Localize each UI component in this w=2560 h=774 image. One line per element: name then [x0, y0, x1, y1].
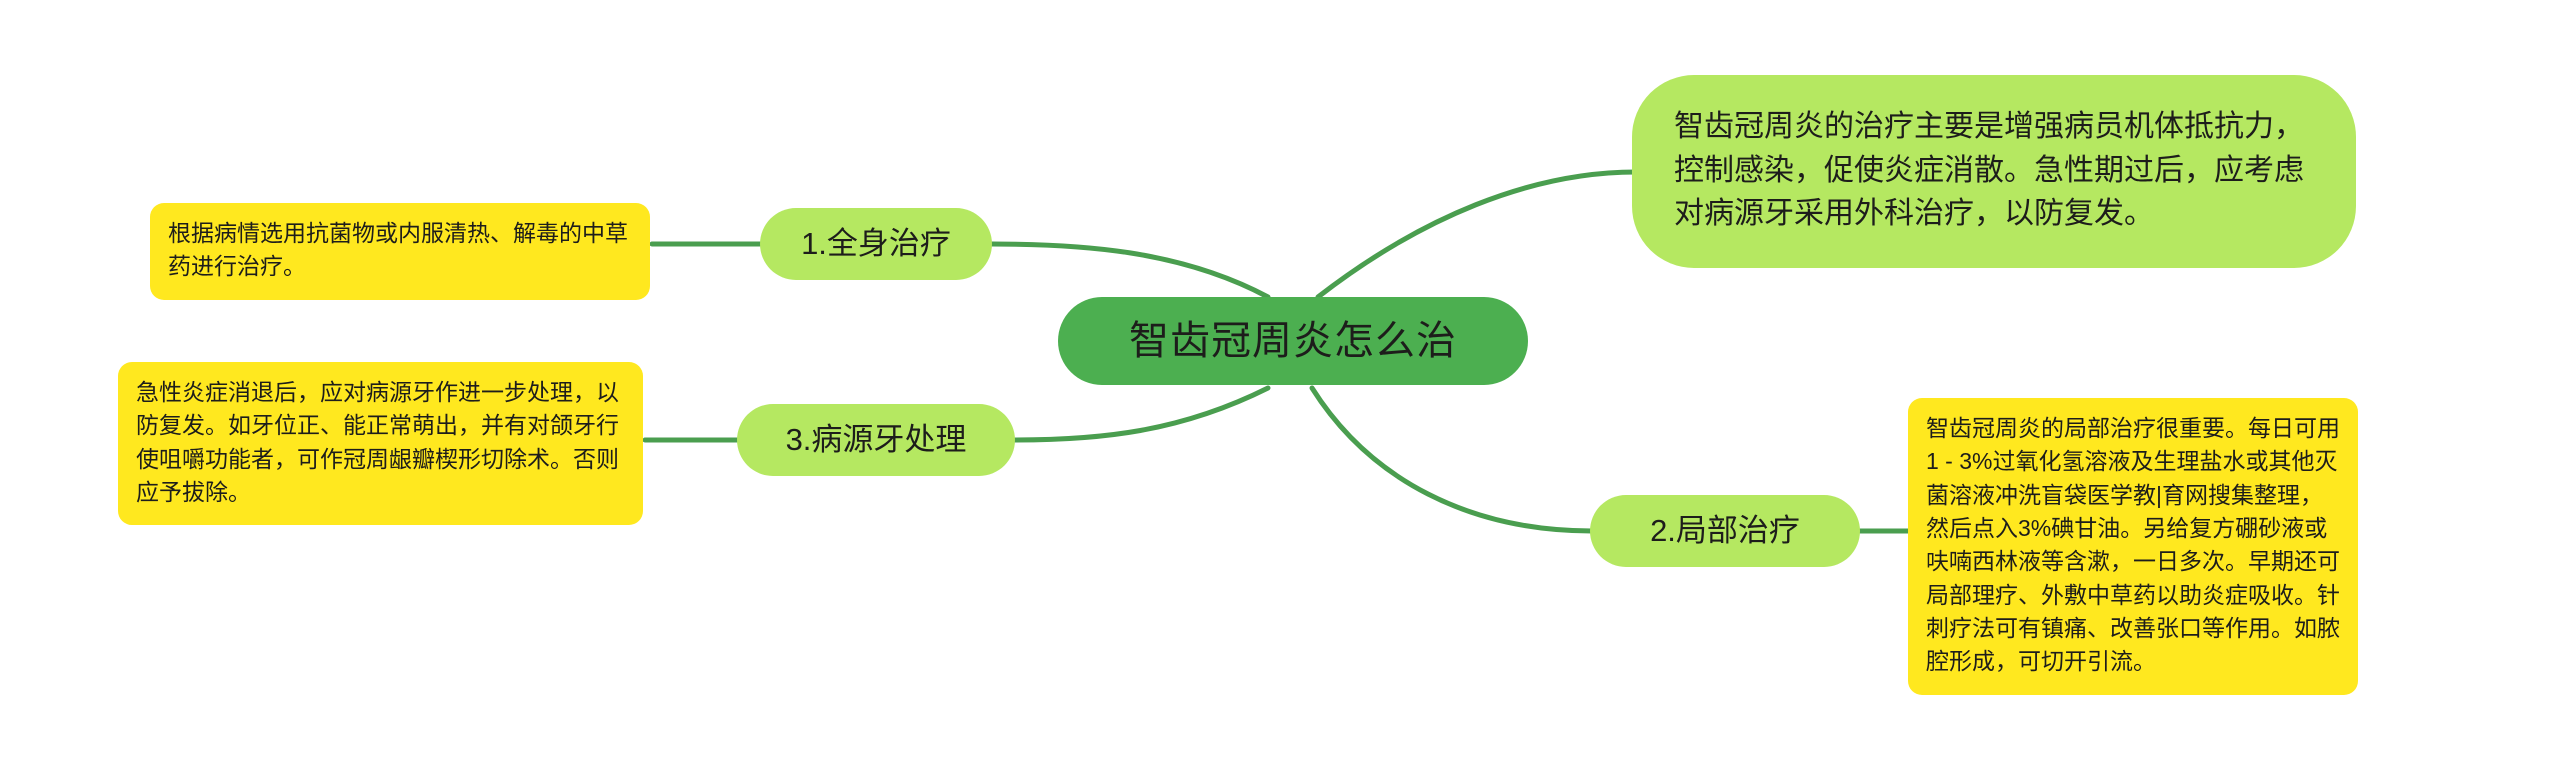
root-node-label: 智齿冠周炎怎么治	[1129, 316, 1457, 366]
edge-root-to-branch-3	[1015, 388, 1268, 440]
branch-node-label: 1.全身治疗	[801, 225, 951, 262]
leaf-note-text: 急性炎症消退后，应对病源牙作进一步处理，以防复发。如牙位正、能正常萌出，并有对颌…	[136, 376, 625, 509]
mindmap-canvas: 智齿冠周炎怎么治 1.全身治疗 3.病源牙处理 2.局部治疗 根据病情选用抗菌物…	[0, 0, 2560, 774]
leaf-note-systemic-treatment[interactable]: 根据病情选用抗菌物或内服清热、解毒的中草药进行治疗。	[150, 203, 650, 300]
branch-node-source-tooth-management[interactable]: 3.病源牙处理	[737, 404, 1015, 476]
branch-node-systemic-treatment[interactable]: 1.全身治疗	[760, 208, 992, 280]
leaf-note-source-tooth-management[interactable]: 急性炎症消退后，应对病源牙作进一步处理，以防复发。如牙位正、能正常萌出，并有对颌…	[118, 362, 643, 525]
edge-root-to-branch-1	[992, 244, 1268, 297]
leaf-note-text: 智齿冠周炎的局部治疗很重要。每日可用1 - 3%过氧化氢溶液及生理盐水或其他灭菌…	[1926, 412, 2340, 679]
edge-root-to-branch-2	[1312, 388, 1592, 531]
leaf-note-text: 根据病情选用抗菌物或内服清热、解毒的中草药进行治疗。	[168, 217, 632, 284]
edge-root-to-summary	[1318, 172, 1636, 297]
root-node[interactable]: 智齿冠周炎怎么治	[1058, 297, 1528, 385]
summary-node[interactable]: 智齿冠周炎的治疗主要是增强病员机体抵抗力，控制感染，促使炎症消散。急性期过后，应…	[1632, 75, 2356, 268]
summary-node-text: 智齿冠周炎的治疗主要是增强病员机体抵抗力，控制感染，促使炎症消散。急性期过后，应…	[1674, 105, 2314, 236]
leaf-note-local-treatment[interactable]: 智齿冠周炎的局部治疗很重要。每日可用1 - 3%过氧化氢溶液及生理盐水或其他灭菌…	[1908, 398, 2358, 695]
branch-node-label: 3.病源牙处理	[786, 421, 967, 458]
branch-node-label: 2.局部治疗	[1650, 512, 1800, 549]
branch-node-local-treatment[interactable]: 2.局部治疗	[1590, 495, 1860, 567]
